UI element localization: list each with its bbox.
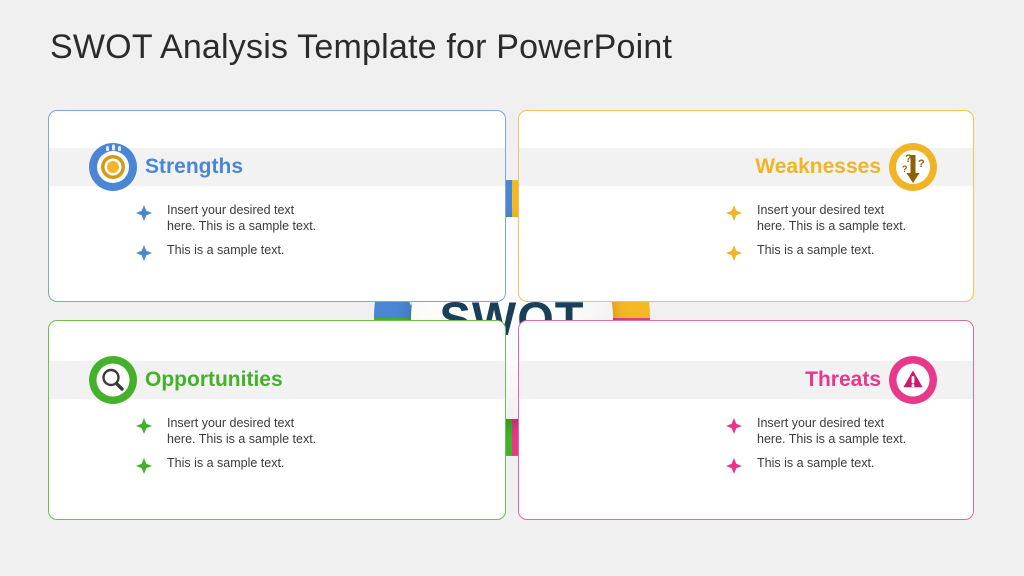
panel-opportunities[interactable]: Opportunities Insert your desired text h… xyxy=(48,320,506,520)
bullet-list-threats: Insert your desired text here. This is a… xyxy=(725,416,974,484)
list-item-text: Insert your desired text here. This is a… xyxy=(757,203,906,234)
diamond-bullet-icon xyxy=(135,417,153,435)
panel-title-threats: Threats xyxy=(805,361,881,399)
diamond-bullet-icon xyxy=(135,204,153,222)
down-arrow-question-icon: ? ? ? xyxy=(887,141,939,193)
list-item-text: This is a sample text. xyxy=(757,456,874,472)
list-item-text: Insert your desired text here. This is a… xyxy=(167,416,316,447)
list-item: This is a sample text. xyxy=(725,456,974,475)
list-item: Insert your desired text here. This is a… xyxy=(135,416,435,447)
svg-text:?: ? xyxy=(902,164,908,174)
swot-slide: SWOT Analysis Template for PowerPoint xyxy=(0,0,1024,576)
bullet-list-weaknesses: Insert your desired text here. This is a… xyxy=(725,203,974,271)
list-item: This is a sample text. xyxy=(725,243,974,262)
list-item-text: This is a sample text. xyxy=(757,243,874,259)
diamond-bullet-icon xyxy=(725,244,743,262)
list-item: Insert your desired text here. This is a… xyxy=(725,203,974,234)
panel-strengths[interactable]: Strengths Insert your desired text here.… xyxy=(48,110,506,302)
bullet-list-strengths: Insert your desired text here. This is a… xyxy=(135,203,435,271)
bullseye-target-icon xyxy=(87,141,139,193)
list-item-text: Insert your desired text here. This is a… xyxy=(757,416,906,447)
list-item-text: This is a sample text. xyxy=(167,456,284,472)
list-item-text: This is a sample text. xyxy=(167,243,284,259)
panel-title-strengths: Strengths xyxy=(145,148,243,186)
svg-text:?: ? xyxy=(918,158,925,170)
list-item: This is a sample text. xyxy=(135,456,435,475)
list-item: This is a sample text. xyxy=(135,243,435,262)
panel-threats[interactable]: Threats Insert your desired text here. T… xyxy=(518,320,974,520)
list-item: Insert your desired text here. This is a… xyxy=(725,416,974,447)
panel-title-opportunities: Opportunities xyxy=(145,361,283,399)
page-title: SWOT Analysis Template for PowerPoint xyxy=(50,28,672,67)
bullet-list-opportunities: Insert your desired text here. This is a… xyxy=(135,416,435,484)
diamond-bullet-icon xyxy=(725,204,743,222)
diamond-bullet-icon xyxy=(135,457,153,475)
warning-triangle-icon xyxy=(887,354,939,406)
list-item-text: Insert your desired text here. This is a… xyxy=(167,203,316,234)
diamond-bullet-icon xyxy=(725,457,743,475)
diamond-bullet-icon xyxy=(725,417,743,435)
panel-title-weaknesses: Weaknesses xyxy=(755,148,881,186)
magnifying-glass-icon xyxy=(87,354,139,406)
list-item: Insert your desired text here. This is a… xyxy=(135,203,435,234)
panel-weaknesses[interactable]: ? ? ? Weaknesses Insert your desired tex… xyxy=(518,110,974,302)
diamond-bullet-icon xyxy=(135,244,153,262)
